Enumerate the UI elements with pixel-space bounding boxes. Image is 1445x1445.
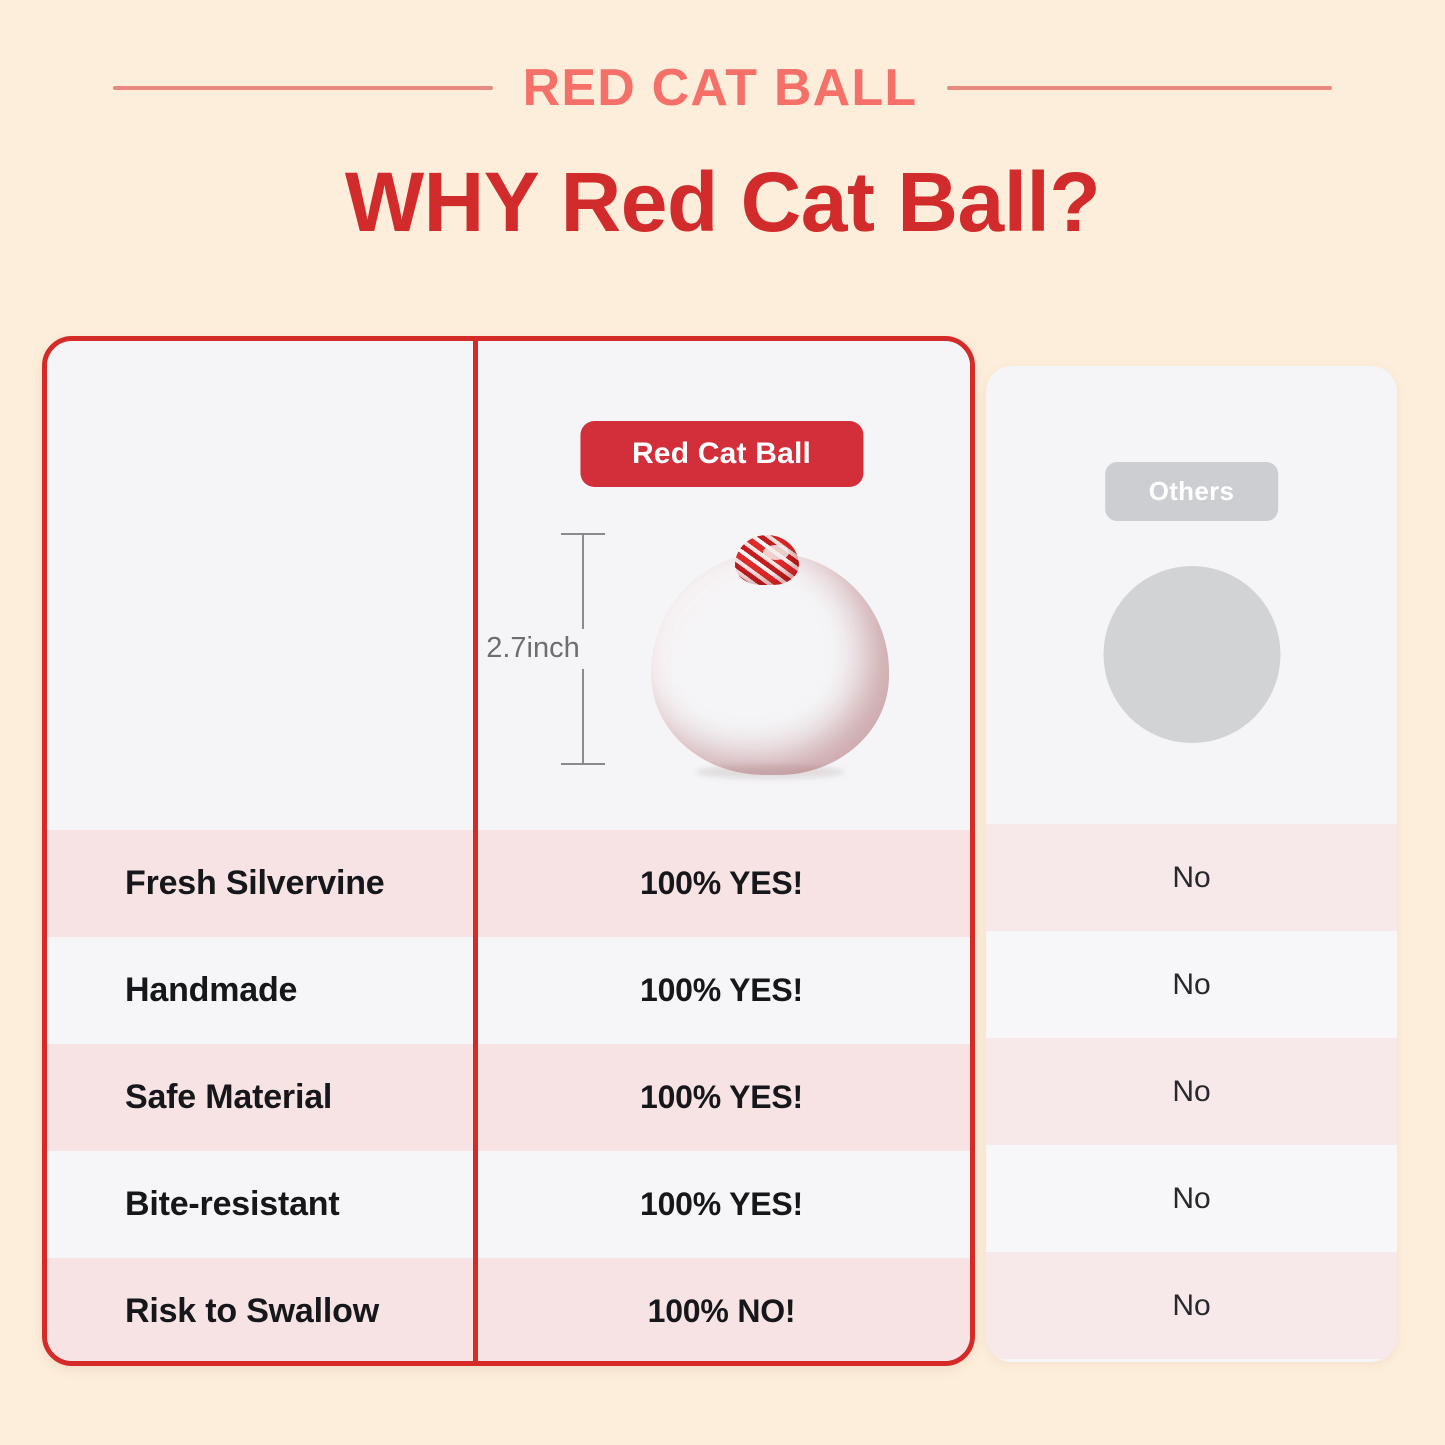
others-cell: No <box>986 824 1397 931</box>
product-value: 100% YES! <box>473 1151 970 1258</box>
page-title: WHY Red Cat Ball? <box>0 158 1445 246</box>
dimension-measure: 2.7inch <box>523 533 633 765</box>
crocheted-ball-icon <box>651 553 889 775</box>
table-row: Handmade 100% YES! <box>47 937 970 1044</box>
divider-line-right <box>947 86 1332 90</box>
others-placeholder-circle-icon <box>1103 566 1280 743</box>
feature-label: Safe Material <box>47 1044 473 1151</box>
product-value: 100% YES! <box>473 1044 970 1151</box>
product-value: 100% NO! <box>473 1258 970 1365</box>
eyebrow-row: RED CAT BALL <box>0 52 1445 124</box>
others-cell: No <box>986 1252 1397 1359</box>
column-divider <box>473 341 478 1361</box>
others-column-panel: Others No No No No No <box>986 366 1397 1362</box>
feature-label: Bite-resistant <box>47 1151 473 1258</box>
others-cell: No <box>986 1038 1397 1145</box>
product-badge: Red Cat Ball <box>580 421 863 487</box>
table-row: Safe Material 100% YES! <box>47 1044 970 1151</box>
others-value-rows: No No No No No <box>986 824 1397 1359</box>
dimension-label: 2.7inch <box>473 629 593 669</box>
table-row: Bite-resistant 100% YES! <box>47 1151 970 1258</box>
feature-column-header <box>47 341 473 830</box>
feature-label: Risk to Swallow <box>47 1258 473 1365</box>
product-image <box>639 515 899 780</box>
others-cell: No <box>986 931 1397 1038</box>
others-badge: Others <box>1105 462 1279 521</box>
divider-line-left <box>113 86 493 90</box>
others-cell: No <box>986 1145 1397 1252</box>
others-column-header: Others <box>986 366 1397 824</box>
card-header: Red Cat Ball 2.7inch <box>47 341 970 830</box>
feature-label: Fresh Silvervine <box>47 830 473 937</box>
measure-cap-bottom-icon <box>561 763 605 765</box>
ball-knot-hole-icon <box>763 545 789 560</box>
table-row: Fresh Silvervine 100% YES! <box>47 830 970 937</box>
product-value: 100% YES! <box>473 937 970 1044</box>
ball-knot-icon <box>735 535 799 585</box>
table-row: Risk to Swallow 100% NO! <box>47 1258 970 1365</box>
feature-label: Handmade <box>47 937 473 1044</box>
page-header: RED CAT BALL WHY Red Cat Ball? <box>0 0 1445 320</box>
product-value: 100% YES! <box>473 830 970 937</box>
comparison-card: Red Cat Ball 2.7inch Fresh Silvervine 10… <box>42 336 975 1366</box>
product-column-header: Red Cat Ball 2.7inch <box>473 341 970 830</box>
comparison-rows: Fresh Silvervine 100% YES! Handmade 100%… <box>47 830 970 1365</box>
eyebrow-label: RED CAT BALL <box>523 62 918 114</box>
